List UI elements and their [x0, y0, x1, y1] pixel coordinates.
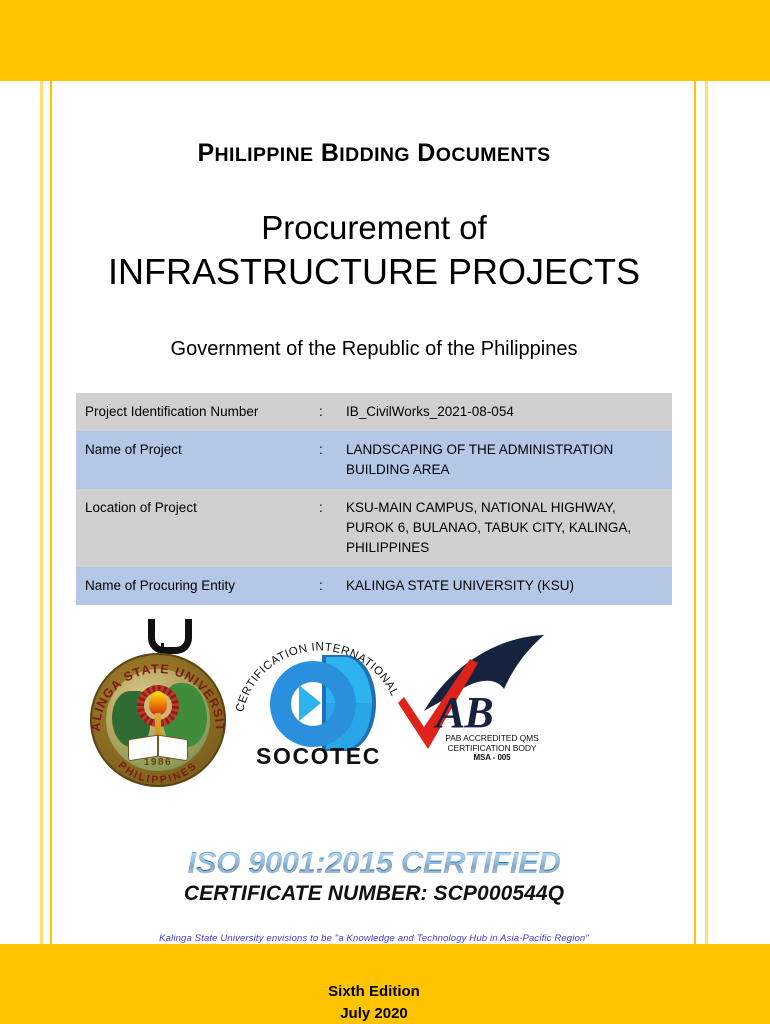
- row-separator: :: [315, 393, 337, 431]
- svg-text:PHILIPPINES: PHILIPPINES: [116, 759, 201, 786]
- table-row: Project Identification Number : IB_Civil…: [76, 393, 672, 431]
- socotec-logo: CERTIFICATION INTERNATIONAL SOCOTEC: [226, 627, 411, 777]
- row-value: IB_CivilWorks_2021-08-054: [337, 393, 672, 431]
- document-page: PHILIPPINE BIDDING DOCUMENTS Procurement…: [0, 0, 770, 1024]
- pab-caption-line1: PAB ACCREDITED QMS: [428, 733, 556, 743]
- certificate-number: CERTIFICATE NUMBER: SCP000544Q: [55, 882, 693, 906]
- pab-caption-line2: CERTIFICATION BODY: [428, 743, 556, 753]
- logo-row: 1986 KALINGA STATE UNIVERSITY PHILIPPINE…: [76, 619, 672, 847]
- page-title-text: PHILIPPINE BIDDING DOCUMENTS: [197, 139, 550, 167]
- socotec-wordmark: SOCOTEC: [226, 743, 411, 770]
- government-line: Government of the Republic of the Philip…: [55, 338, 693, 361]
- page-content: PHILIPPINE BIDDING DOCUMENTS Procurement…: [55, 81, 693, 944]
- row-separator: :: [315, 431, 337, 489]
- row-separator: :: [315, 489, 337, 567]
- right-outer-rule: [705, 81, 708, 944]
- right-inner-rule: [694, 81, 696, 944]
- pab-logo: AB PAB ACCREDITED QMS CERTIFICATION BODY…: [394, 633, 554, 773]
- row-label: Project Identification Number: [76, 393, 315, 431]
- pab-caption: PAB ACCREDITED QMS CERTIFICATION BODY MS…: [428, 733, 556, 762]
- socotec-arc-text: CERTIFICATION INTERNATIONAL: [226, 627, 411, 757]
- row-label: Name of Procuring Entity: [76, 567, 315, 605]
- ksu-arc-bottom-text: PHILIPPINES: [88, 647, 228, 793]
- row-label: Location of Project: [76, 489, 315, 567]
- vision-statement: Kalinga State University envisions to be…: [55, 933, 693, 944]
- table-row: Location of Project : KSU-MAIN CAMPUS, N…: [76, 489, 672, 567]
- row-separator: :: [315, 567, 337, 605]
- project-info-table: Project Identification Number : IB_Civil…: [76, 393, 672, 605]
- top-yellow-band: [0, 0, 770, 81]
- pab-letters: AB: [436, 687, 493, 738]
- ksu-arc-bottom-label: PHILIPPINES: [116, 759, 201, 786]
- row-value: KSU-MAIN CAMPUS, NATIONAL HIGHWAY, PUROK…: [337, 489, 672, 567]
- ksu-seal-icon: 1986 KALINGA STATE UNIVERSITY PHILIPPINE…: [88, 619, 238, 791]
- svg-text:CERTIFICATION INTERNATIONAL: CERTIFICATION INTERNATIONAL: [234, 642, 400, 714]
- row-value: LANDSCAPING OF THE ADMINISTRATION BUILDI…: [337, 431, 672, 489]
- left-inner-rule: [50, 81, 52, 944]
- table-row: Name of Procuring Entity : KALINGA STATE…: [76, 567, 672, 605]
- edition-label: Sixth Edition: [55, 981, 693, 1002]
- subtitle-procurement: Procurement of: [55, 208, 693, 248]
- table-row: Name of Project : LANDSCAPING OF THE ADM…: [76, 431, 672, 489]
- pab-caption-line3: MSA - 005: [428, 753, 556, 762]
- edition-date: July 2020: [55, 1003, 693, 1024]
- edition-block: Sixth Edition July 2020: [55, 981, 693, 1024]
- page-title: PHILIPPINE BIDDING DOCUMENTS: [55, 139, 693, 168]
- row-value: KALINGA STATE UNIVERSITY (KSU): [337, 567, 672, 605]
- iso-certified-banner: ISO 9001:2015 CERTIFIED: [55, 845, 693, 881]
- subtitle-infrastructure: INFRASTRUCTURE PROJECTS: [55, 250, 693, 293]
- socotec-arc-label: CERTIFICATION INTERNATIONAL: [234, 642, 400, 714]
- left-outer-rule: [40, 81, 43, 944]
- row-label: Name of Project: [76, 431, 315, 489]
